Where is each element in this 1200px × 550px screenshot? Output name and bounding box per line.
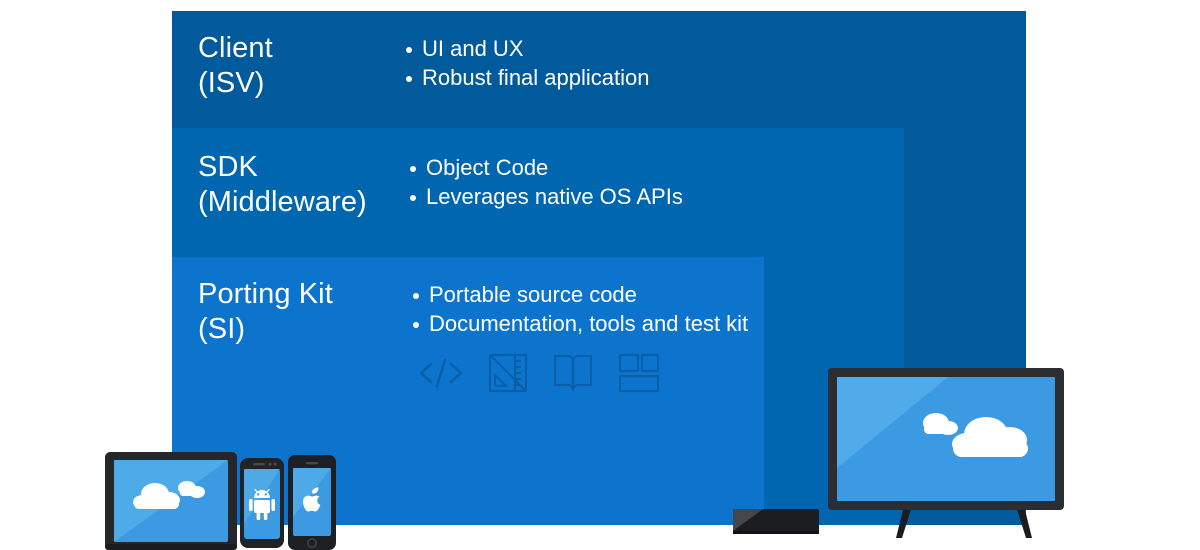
layer-title-porting-kit-line1: Porting Kit <box>198 280 388 309</box>
layer-title-client-line2: (ISV) <box>198 69 373 98</box>
set-top-box-device <box>733 505 819 540</box>
layout-grid-icon <box>617 352 661 394</box>
stack-diagram: Client (ISV) UI and UX Robust final appl… <box>0 0 1200 550</box>
layer-title-porting-kit-line2: (SI) <box>198 315 388 344</box>
tablet-device <box>105 452 237 550</box>
apple-phone-device <box>288 455 336 550</box>
layer-title-client-line1: Client <box>198 34 373 63</box>
android-phone-device <box>240 458 284 550</box>
layer-bullets-client: UI and UX Robust final application <box>406 34 649 92</box>
list-item: Object Code <box>410 153 683 182</box>
layer-row-porting-kit: Porting Kit (SI) Portable source code Do… <box>198 280 748 344</box>
list-item: UI and UX <box>406 34 649 63</box>
list-item: Leverages native OS APIs <box>410 182 683 211</box>
layer-title-client: Client (ISV) <box>198 34 373 98</box>
television-device <box>828 368 1064 550</box>
layer-row-sdk: SDK (Middleware) Object Code Leverages n… <box>198 153 683 217</box>
list-item: Documentation, tools and test kit <box>413 309 748 338</box>
layer-title-sdk: SDK (Middleware) <box>198 153 383 217</box>
code-brackets-icon <box>417 353 465 393</box>
layer-row-client: Client (ISV) UI and UX Robust final appl… <box>198 34 649 98</box>
layer-title-porting-kit: Porting Kit (SI) <box>198 280 388 344</box>
porting-kit-icon-strip <box>417 352 661 394</box>
open-book-icon <box>551 352 595 394</box>
layer-bullets-porting-kit: Portable source code Documentation, tool… <box>413 280 748 338</box>
list-item: Portable source code <box>413 280 748 309</box>
layer-title-sdk-line2: (Middleware) <box>198 188 383 217</box>
layer-bullets-sdk: Object Code Leverages native OS APIs <box>410 153 683 211</box>
layer-title-sdk-line1: SDK <box>198 153 383 182</box>
ruler-triangle-icon <box>487 352 529 394</box>
list-item: Robust final application <box>406 63 649 92</box>
